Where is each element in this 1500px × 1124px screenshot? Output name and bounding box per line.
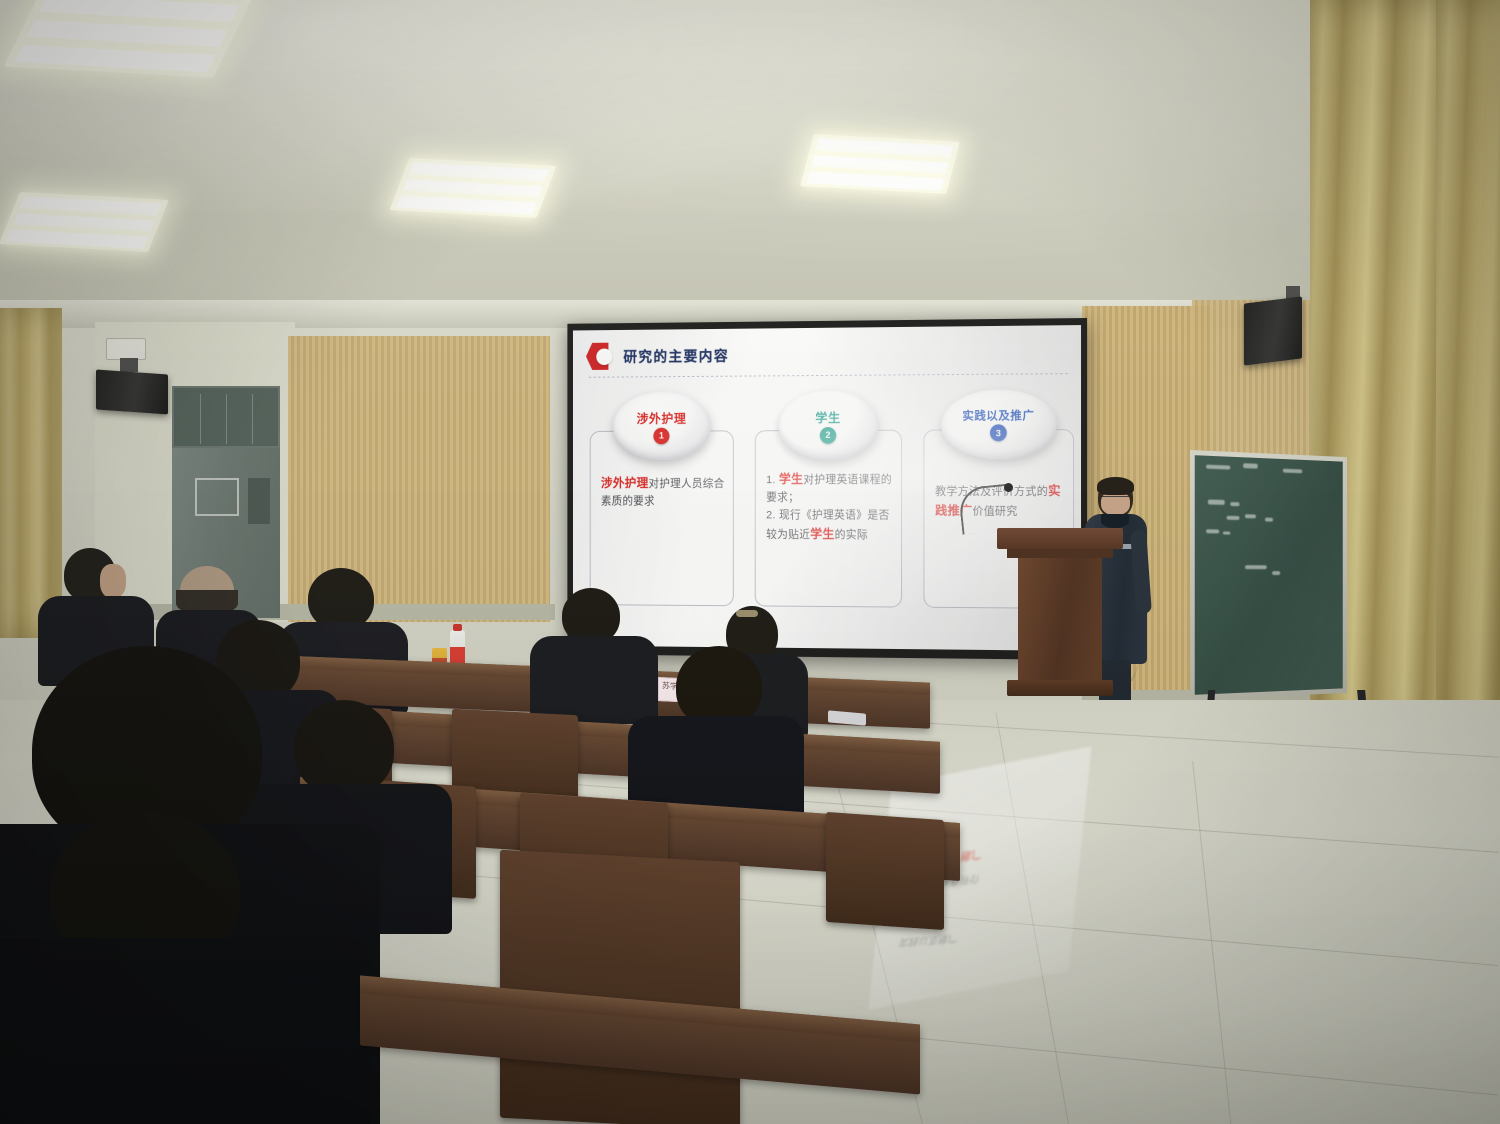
column-2-line2-rest2: 的实际 — [835, 530, 868, 542]
column-3-bubble-label: 实践以及推广 — [962, 407, 1034, 423]
speaker-right — [1244, 296, 1302, 365]
column-1-bubble: 涉外护理 1 — [613, 391, 711, 459]
column-3-bubble: 实践以及推广 3 — [941, 389, 1057, 459]
slide-header: 研究的主要内容 — [586, 341, 729, 371]
presenter-collar — [1101, 514, 1129, 528]
wall-control-box — [106, 338, 146, 360]
column-2-line1-num: 1. — [766, 474, 779, 486]
person-torso — [530, 636, 658, 724]
hexagon-logo-icon — [586, 342, 614, 371]
suspended-ceiling — [0, 0, 1500, 330]
presenter-fringe — [1097, 477, 1134, 495]
slide-column-1: 涉外护理 1 涉外护理对护理人员综合素质的要求 — [590, 430, 734, 606]
podium-base — [1007, 680, 1113, 696]
chalkboard — [1190, 450, 1347, 700]
ceiling-light-panel — [800, 134, 960, 194]
podium-top — [997, 528, 1123, 549]
slide-title: 研究的主要内容 — [623, 345, 729, 366]
column-1-body-lead: 涉外护理 — [601, 476, 649, 490]
chalkboard-surface — [1195, 455, 1343, 695]
podium-lip — [1007, 549, 1113, 558]
speaker-bracket-left — [120, 358, 138, 372]
slide-column-2: 学生 2 1. 学生对护理英语课程的要求； 2. 现行《护理英语》是否较为贴近学… — [755, 430, 902, 608]
ceiling-light-panel — [4, 0, 252, 78]
door-window — [248, 478, 270, 524]
presenter-glasses-icon — [1102, 496, 1129, 503]
column-1-badge: 1 — [653, 427, 669, 444]
door-kick-panel — [195, 478, 239, 516]
ceiling-light-panel — [390, 158, 557, 218]
person-torso — [0, 938, 370, 1124]
audience-person-foreground — [0, 812, 330, 1124]
column-2-line2-num: 2. — [766, 510, 779, 522]
column-1-body: 涉外护理对护理人员综合素质的要求 — [601, 473, 725, 510]
podium-lectern — [1005, 528, 1115, 703]
slide-divider — [589, 373, 1070, 378]
audience-person — [538, 588, 648, 698]
person-face — [100, 564, 126, 598]
column-2-body: 1. 学生对护理英语课程的要求； 2. 现行《护理英语》是否较为贴近学生的实际 — [766, 469, 893, 545]
lecture-hall-photo: 研究的主要内容 涉外护理 1 涉外护理对护理人员综合素质的要求 — [0, 0, 1500, 1124]
speaker-left — [96, 369, 168, 414]
person-hair-clip — [736, 610, 758, 617]
column-3-badge: 3 — [990, 424, 1007, 441]
column-2-badge: 2 — [820, 427, 836, 444]
audience-person — [38, 548, 138, 658]
column-2-line1-highlight: 学生 — [779, 472, 803, 486]
microphone-head-icon — [1004, 483, 1013, 492]
column-2-bubble: 学生 2 — [778, 390, 878, 459]
ceiling-light-panel — [0, 192, 169, 252]
podium-body — [1018, 558, 1102, 680]
column-2-bubble-label: 学生 — [815, 407, 840, 426]
column-1-bubble-label: 涉外护理 — [637, 408, 687, 427]
door-transom-window — [172, 386, 280, 448]
audience-person — [640, 646, 790, 816]
column-2-line2-highlight: 学生 — [810, 528, 834, 542]
chair — [826, 812, 944, 930]
chair — [500, 850, 740, 1124]
